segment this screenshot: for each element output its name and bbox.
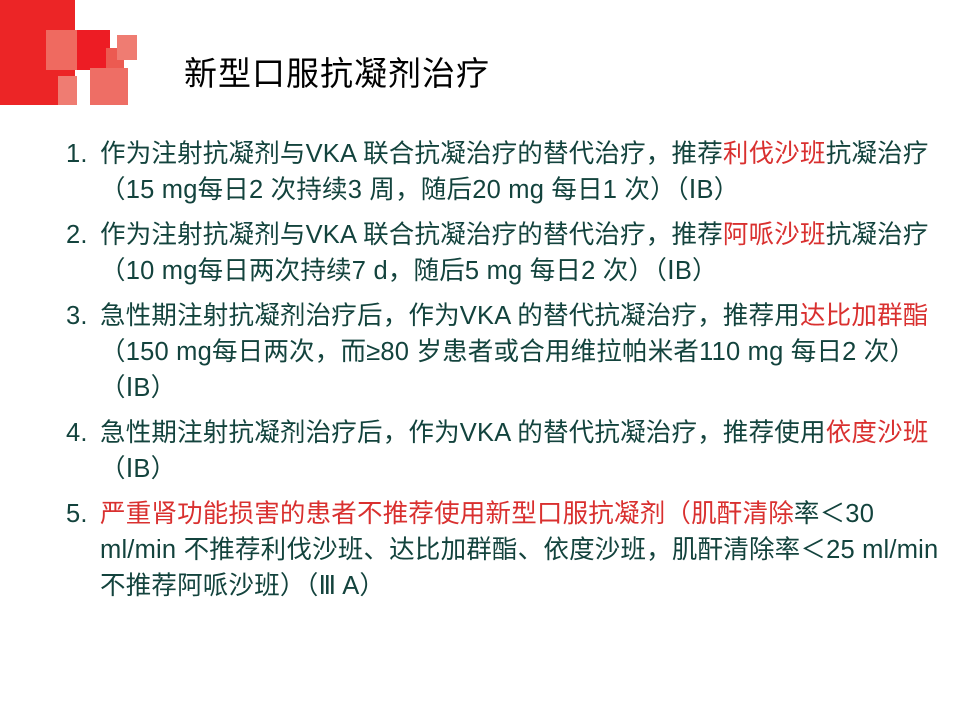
logo-block-mid [90, 68, 128, 105]
list-item: 2.作为注射抗凝剂与VKA 联合抗凝治疗的替代治疗，推荐阿哌沙班抗凝治疗（10 … [66, 217, 946, 289]
text-segment: （150 mg每日两次，而≥80 岁患者或合用维拉帕米者110 mg 每日2 次… [100, 338, 915, 402]
slide-title: 新型口服抗凝剂治疗 [184, 52, 490, 96]
list-item-text: 作为注射抗凝剂与VKA 联合抗凝治疗的替代治疗，推荐阿哌沙班抗凝治疗（10 mg… [100, 217, 946, 289]
slide-canvas: 新型口服抗凝剂治疗 1.作为注射抗凝剂与VKA 联合抗凝治疗的替代治疗，推荐利伐… [0, 0, 960, 720]
logo-decoration [0, 0, 150, 112]
text-segment: 急性期注射抗凝剂治疗后，作为VKA 的替代抗凝治疗，推荐用 [100, 302, 800, 330]
drug-name-highlight: 利伐沙班 [723, 140, 826, 168]
list-item: 1.作为注射抗凝剂与VKA 联合抗凝治疗的替代治疗，推荐利伐沙班抗凝治疗（15 … [66, 136, 946, 208]
list-item-text: 急性期注射抗凝剂治疗后，作为VKA 的替代抗凝治疗，推荐用达比加群酯（150 m… [100, 298, 946, 406]
text-segment: 作为注射抗凝剂与VKA 联合抗凝治疗的替代治疗，推荐 [100, 221, 723, 249]
drug-name-highlight: 严重肾功能损害的患者不推荐使用新型口服抗凝剂（肌酐清除 [100, 500, 794, 528]
list-item-number: 4. [66, 415, 100, 451]
list-item-number: 5. [66, 496, 100, 532]
text-segment: 急性期注射抗凝剂治疗后，作为VKA 的替代抗凝治疗，推荐使用 [100, 419, 826, 447]
logo-block-small [58, 76, 77, 105]
logo-block-light [46, 30, 78, 70]
drug-name-highlight: 阿哌沙班 [723, 221, 826, 249]
recommendation-list: 1.作为注射抗凝剂与VKA 联合抗凝治疗的替代治疗，推荐利伐沙班抗凝治疗（15 … [66, 136, 946, 613]
list-item-number: 2. [66, 217, 100, 253]
list-item-text: 作为注射抗凝剂与VKA 联合抗凝治疗的替代治疗，推荐利伐沙班抗凝治疗（15 mg… [100, 136, 946, 208]
drug-name-highlight: 依度沙班 [826, 419, 929, 447]
drug-name-highlight: 达比加群酯 [800, 302, 929, 330]
text-segment: （ⅠB） [100, 455, 176, 483]
list-item: 4.急性期注射抗凝剂治疗后，作为VKA 的替代抗凝治疗，推荐使用依度沙班（ⅠB） [66, 415, 946, 487]
list-item-text: 严重肾功能损害的患者不推荐使用新型口服抗凝剂（肌酐清除率＜30 ml/min 不… [100, 496, 946, 604]
list-item: 3.急性期注射抗凝剂治疗后，作为VKA 的替代抗凝治疗，推荐用达比加群酯（150… [66, 298, 946, 406]
list-item-number: 3. [66, 298, 100, 334]
logo-block-corner [117, 35, 137, 60]
list-item-number: 1. [66, 136, 100, 172]
list-item-text: 急性期注射抗凝剂治疗后，作为VKA 的替代抗凝治疗，推荐使用依度沙班（ⅠB） [100, 415, 946, 487]
text-segment: 作为注射抗凝剂与VKA 联合抗凝治疗的替代治疗，推荐 [100, 140, 723, 168]
list-item: 5.严重肾功能损害的患者不推荐使用新型口服抗凝剂（肌酐清除率＜30 ml/min… [66, 496, 946, 604]
